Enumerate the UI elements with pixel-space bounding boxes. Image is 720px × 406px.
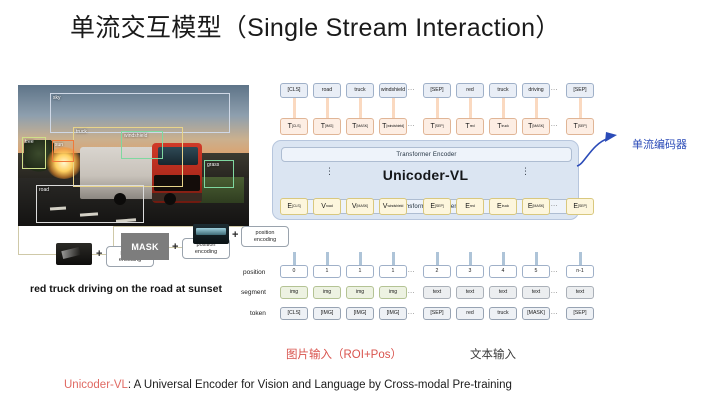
e-embedding: E[SEP]	[566, 198, 594, 215]
token-cell: [SEP]	[423, 307, 451, 320]
t-embedding: T[SEP]	[423, 118, 451, 135]
bbox-road: road	[36, 185, 144, 223]
image-caption: red truck driving on the road at sunset	[30, 283, 222, 295]
output-token: truck	[346, 83, 374, 98]
flow-arrow	[579, 252, 582, 266]
position-encoding-3: position encoding	[241, 226, 289, 247]
image-input-label: 图片输入（ROI+Pos）	[286, 346, 402, 362]
ellipsis: ...	[408, 268, 415, 274]
flow-line	[18, 254, 56, 255]
flow-arrow	[293, 98, 296, 118]
token-cell: truck	[489, 307, 517, 320]
segment-cell: img	[346, 286, 374, 299]
flow-line	[18, 226, 19, 254]
flow-arrow	[535, 98, 538, 118]
position-cell: 3	[456, 265, 484, 278]
ellipsis: ...	[551, 202, 558, 208]
ellipsis: ...	[551, 122, 558, 128]
flow-arrow	[579, 98, 582, 118]
ellipsis: ...	[551, 289, 558, 295]
flow-arrow	[293, 252, 296, 266]
bbox-label-grass: grass	[207, 162, 219, 169]
plus-icon: +	[96, 248, 102, 260]
vertical-dots-right: ⋮	[521, 169, 530, 174]
bbox-windshield: windshield	[121, 131, 163, 159]
token-cell: [MASK]	[522, 307, 550, 320]
e-embedding: E[SEP]	[423, 198, 451, 215]
ellipsis: ...	[408, 122, 415, 128]
token-cell: [IMG]	[313, 307, 341, 320]
segment-cell: text	[489, 286, 517, 299]
token-cell: [IMG]	[379, 307, 407, 320]
plus-icon: +	[172, 241, 178, 253]
flow-arrow	[359, 252, 362, 266]
t-embedding: T[MASK]	[346, 118, 374, 135]
output-token: [CLS]	[280, 83, 308, 98]
row-label-token: token	[250, 310, 266, 317]
footer-rest: : A Universal Encoder for Vision and Lan…	[128, 379, 512, 391]
position-cell: 1	[313, 265, 341, 278]
t-embedding: T[IMG]	[313, 118, 341, 135]
segment-cell: img	[379, 286, 407, 299]
token-cell: red	[456, 307, 484, 320]
row-label-position: position	[243, 269, 265, 276]
t-embedding: T[SEP]	[566, 118, 594, 135]
flow-arrow	[502, 98, 505, 118]
flow-arrow	[326, 252, 329, 266]
output-token: driving	[522, 83, 550, 98]
t-embedding: T[windshield]	[379, 118, 407, 135]
flow-arrow	[436, 98, 439, 118]
footer-citation: Unicoder-VL: A Universal Encoder for Vis…	[64, 379, 512, 391]
ellipsis: ...	[551, 86, 558, 92]
position-cell: 5	[522, 265, 550, 278]
bbox-label-sun: sun	[55, 142, 63, 149]
roi-thumbnail-3	[193, 224, 229, 244]
output-token: red	[456, 83, 484, 98]
e-embedding: E[MASK]	[522, 198, 550, 215]
token-cell: [IMG]	[346, 307, 374, 320]
flow-arrow	[392, 98, 395, 118]
flow-line	[113, 226, 114, 248]
ellipsis: ...	[551, 268, 558, 274]
position-cell: 1	[379, 265, 407, 278]
ellipsis: ...	[408, 202, 415, 208]
e-embedding: V[MASK]	[346, 198, 374, 215]
token-cell: [SEP]	[566, 307, 594, 320]
segment-cell: img	[280, 286, 308, 299]
flow-arrow	[502, 252, 505, 266]
position-cell: 2	[423, 265, 451, 278]
segment-cell: text	[423, 286, 451, 299]
token-cell: [CLS]	[280, 307, 308, 320]
bbox-label-windshield: windshield	[124, 133, 147, 140]
mask-region: MASK	[121, 233, 169, 260]
callout-label: 单流编码器	[632, 136, 687, 152]
segment-cell: text	[456, 286, 484, 299]
bbox-label-truck: truck	[76, 129, 87, 136]
truck-bumper	[152, 193, 202, 201]
slide-root: 单流交互模型（Single Stream Interaction） sky tr…	[0, 0, 720, 406]
row-label-segment: segment	[241, 289, 266, 296]
unicoder-vl-label: Unicoder-VL	[273, 167, 578, 183]
t-embedding: Tred	[456, 118, 484, 135]
truck-wheel	[164, 193, 176, 205]
e-embedding: Vwindshield	[379, 198, 407, 215]
flow-arrow	[469, 252, 472, 266]
e-embedding: Etruck	[489, 198, 517, 215]
bbox-label-sky: sky	[53, 95, 61, 102]
flow-arrow	[359, 98, 362, 118]
bbox-label-tree: tree	[25, 139, 34, 146]
t-embedding: Ttruck	[489, 118, 517, 135]
ellipsis: ...	[408, 86, 415, 92]
output-token: [SEP]	[423, 83, 451, 98]
position-cell: 4	[489, 265, 517, 278]
roi-glint	[196, 228, 226, 235]
t-embedding: T[MASK]	[522, 118, 550, 135]
output-token: truck	[489, 83, 517, 98]
bbox-grass: grass	[204, 160, 234, 188]
segment-cell: text	[566, 286, 594, 299]
flow-arrow	[469, 98, 472, 118]
flow-arrow	[436, 252, 439, 266]
segment-cell: text	[522, 286, 550, 299]
e-embedding: E[CLS]	[280, 198, 308, 215]
position-cell: n-1	[566, 265, 594, 278]
source-image: sky truck windshield tree sun grass road	[18, 85, 249, 226]
flow-arrow	[535, 252, 538, 266]
output-token: road	[313, 83, 341, 98]
position-cell: 1	[346, 265, 374, 278]
flow-arrow	[392, 252, 395, 266]
segment-cell: img	[313, 286, 341, 299]
plus-icon: +	[232, 229, 238, 241]
t-embedding: T[CLS]	[280, 118, 308, 135]
text-input-label: 文本输入	[470, 346, 516, 362]
ellipsis: ...	[408, 310, 415, 316]
page-title: 单流交互模型（Single Stream Interaction）	[70, 8, 561, 44]
bbox-tree: tree	[22, 137, 46, 169]
ellipsis: ...	[408, 289, 415, 295]
ellipsis: ...	[551, 310, 558, 316]
output-token: windshield	[379, 83, 407, 98]
footer-highlight: Unicoder-VL	[64, 379, 128, 391]
output-token: [SEP]	[566, 83, 594, 98]
bbox-label-road: road	[39, 187, 49, 194]
e-embedding: Ered	[456, 198, 484, 215]
roi-thumbnail-1	[56, 243, 92, 265]
transformer-encoder-top: Transformer Encoder	[281, 147, 572, 162]
flow-arrow	[326, 98, 329, 118]
position-cell: 0	[280, 265, 308, 278]
e-embedding: Vroad	[313, 198, 341, 215]
bbox-sun: sun	[52, 140, 74, 162]
roi-glint	[61, 247, 80, 259]
